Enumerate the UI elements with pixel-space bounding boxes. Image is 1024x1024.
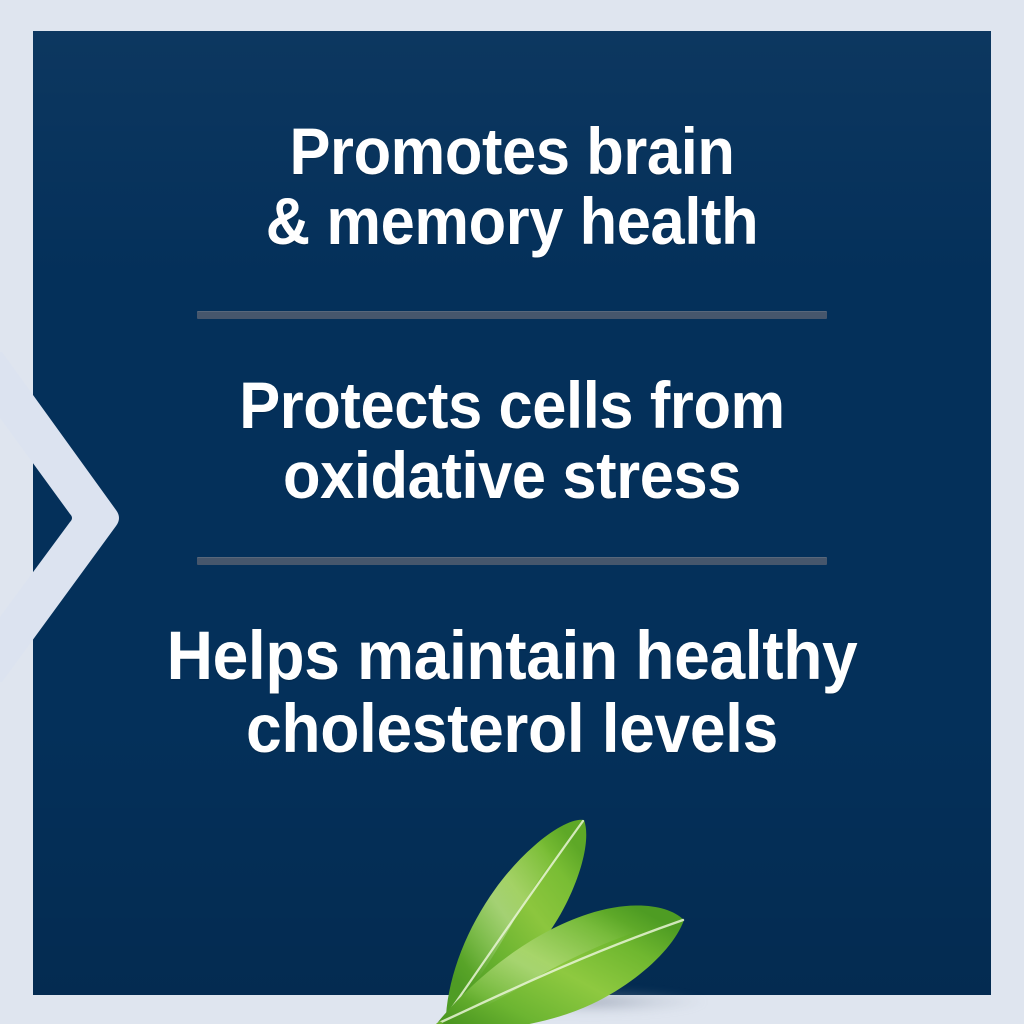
benefit-line-2: & memory health — [67, 187, 958, 257]
benefit-line-2: cholesterol levels — [67, 692, 958, 765]
benefit-line-1: Helps maintain healthy — [67, 619, 958, 692]
benefit-line-1: Protects cells from — [67, 371, 958, 441]
leaf-pair-icon — [416, 806, 716, 1024]
benefit-line-2: oxidative stress — [67, 441, 958, 511]
benefit-line-1: Promotes brain — [67, 117, 958, 187]
divider-1 — [197, 311, 827, 319]
divider-2 — [197, 557, 827, 565]
benefit-item-oxidative-stress: Protects cells from oxidative stress — [67, 371, 958, 511]
benefit-item-cholesterol: Helps maintain healthy cholesterol level… — [67, 619, 958, 765]
benefits-graphic: Promotes brain & memory health Protects … — [0, 0, 1024, 1024]
benefit-item-brain-memory: Promotes brain & memory health — [67, 117, 958, 257]
